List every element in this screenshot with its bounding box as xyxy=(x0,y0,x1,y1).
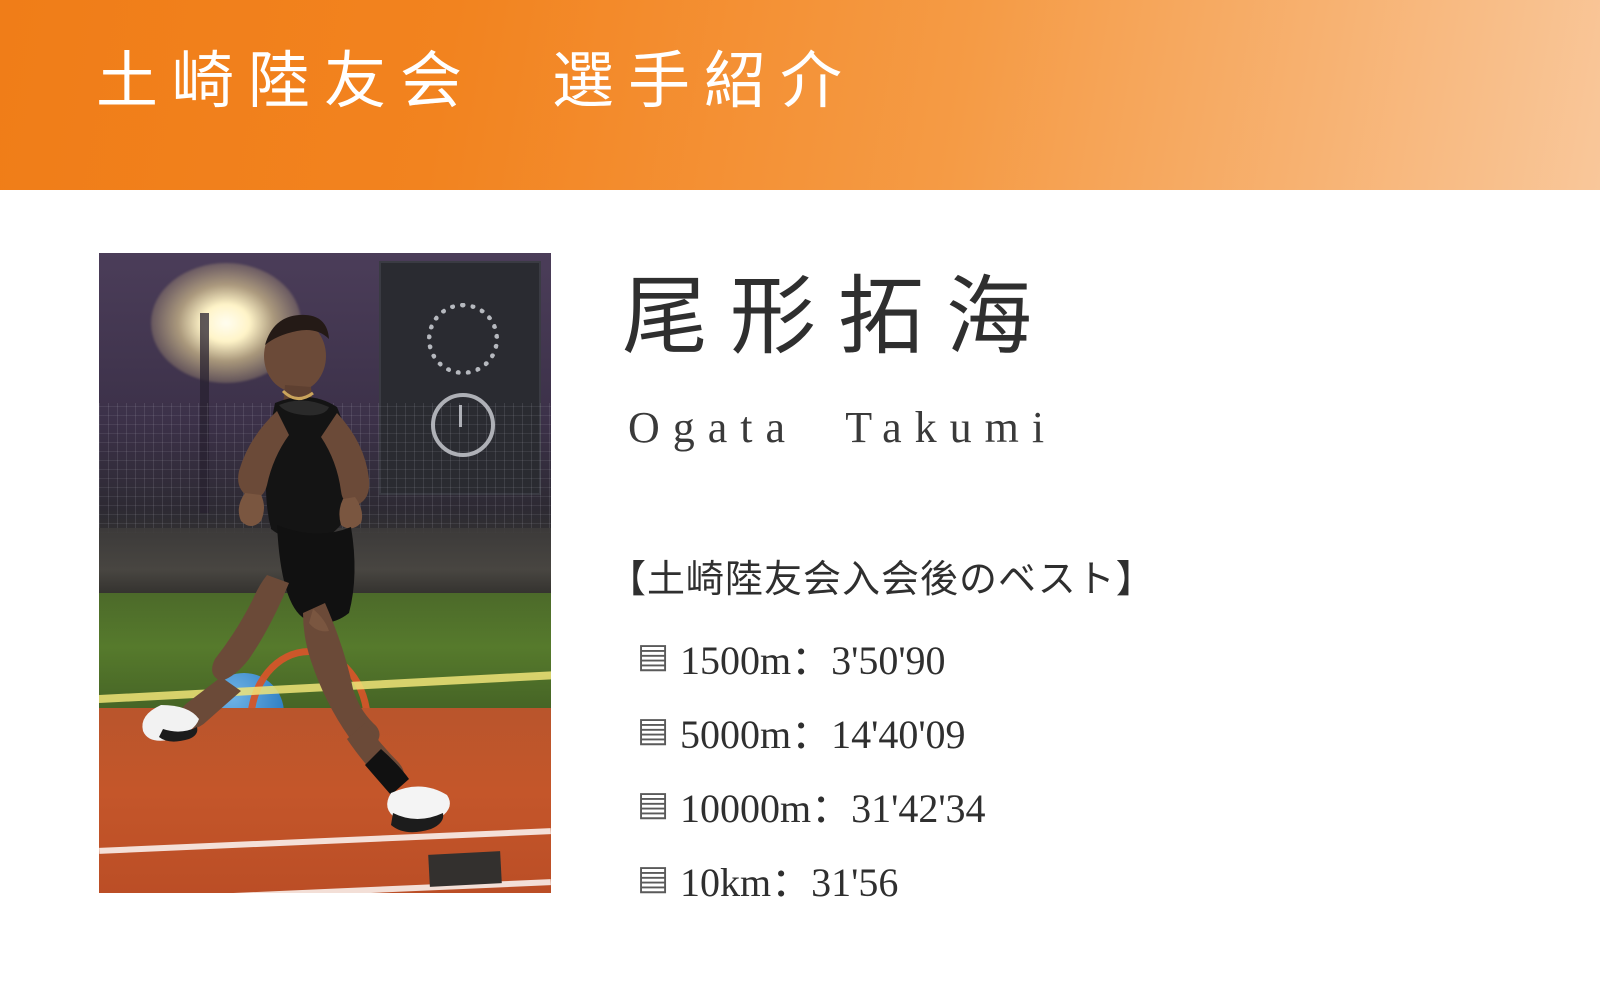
athlete-photo xyxy=(99,253,551,893)
athlete-name-en: Ogata Takumi xyxy=(628,402,1057,453)
record-text: 10km：31'56 xyxy=(680,850,898,908)
photo-background xyxy=(99,253,551,893)
document-icon: ▤ xyxy=(636,788,670,822)
runner-silhouette xyxy=(99,253,551,893)
record-text: 10000m：31'42'34 xyxy=(680,776,986,834)
slide-root: 土崎陸友会 選手紹介 xyxy=(0,0,1600,1000)
page-title: 土崎陸友会 選手紹介 xyxy=(96,48,856,116)
header-band: 土崎陸友会 選手紹介 xyxy=(0,0,1600,190)
personal-best-heading: 【土崎陸友会入会後のベスト】 xyxy=(608,548,1155,603)
record-text: 5000m：14'40'09 xyxy=(680,702,966,760)
document-icon: ▤ xyxy=(636,714,670,748)
athlete-name-jp: 尾形拓海 xyxy=(622,268,1054,367)
list-item: ▤ 10000m：31'42'34 xyxy=(636,768,1436,842)
list-item: ▤ 10km：31'56 xyxy=(636,842,1436,916)
list-item: ▤ 5000m：14'40'09 xyxy=(636,694,1436,768)
personal-best-list: ▤ 1500m：3'50'90 ▤ 5000m：14'40'09 ▤ 10000… xyxy=(636,620,1436,916)
document-icon: ▤ xyxy=(636,862,670,896)
document-icon: ▤ xyxy=(636,640,670,674)
list-item: ▤ 1500m：3'50'90 xyxy=(636,620,1436,694)
record-text: 1500m：3'50'90 xyxy=(680,628,946,686)
